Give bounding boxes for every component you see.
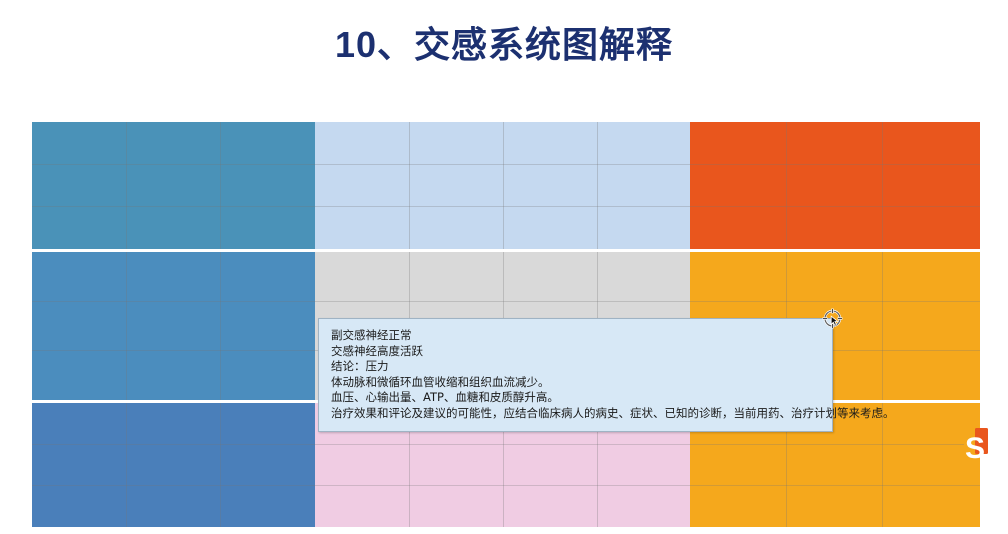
- heatmap-cell-middle-left[interactable]: [32, 252, 315, 400]
- grid-line-h: [315, 485, 690, 486]
- grid-line-h: [32, 206, 315, 207]
- grid-line-h: [32, 444, 315, 445]
- tooltip-line: 血压、心输出量、ATP、血糖和皮质醇升高。: [331, 390, 820, 406]
- grid-line-v: [882, 252, 883, 400]
- grid-line-v: [220, 403, 221, 527]
- slide-root: 10、交感系统图解释: [0, 0, 1008, 534]
- grid-line-h: [315, 206, 690, 207]
- heatmap-row-top: [32, 122, 980, 249]
- grid-line-h: [32, 350, 315, 351]
- grid-line-h: [315, 444, 690, 445]
- grid-line-h: [690, 164, 980, 165]
- grid-line-h: [690, 206, 980, 207]
- grid-line-h: [32, 301, 315, 302]
- grid-line-h: [315, 164, 690, 165]
- grid-line-h: [690, 301, 980, 302]
- grid-line-v: [786, 122, 787, 249]
- tooltip-line: 交感神经高度活跃: [331, 344, 820, 360]
- grid-line-h: [690, 485, 980, 486]
- grid-line-v: [126, 122, 127, 249]
- grid-line-v: [503, 122, 504, 249]
- grid-line-v: [882, 403, 883, 527]
- page-title: 10、交感系统图解释: [0, 22, 1008, 67]
- grid-line-v: [882, 122, 883, 249]
- grid-line-h: [315, 301, 690, 302]
- grid-line-v: [126, 403, 127, 527]
- grid-line-h: [690, 444, 980, 445]
- grid-line-v: [126, 252, 127, 400]
- grid-line-v: [220, 252, 221, 400]
- heatmap-cell-top-left[interactable]: [32, 122, 315, 249]
- sogou-logo: S: [962, 428, 998, 472]
- grid-line-v: [597, 122, 598, 249]
- tooltip-line: 体动脉和微循环血管收缩和组织血流减少。: [331, 375, 820, 391]
- tooltip-line: 治疗效果和评论及建议的可能性，应结合临床病人的病史、症状、已知的诊断，当前用药、…: [331, 406, 820, 422]
- heatmap-cell-top-right[interactable]: [690, 122, 980, 249]
- tooltip-line: 结论：压力: [331, 359, 820, 375]
- sogou-logo-letter: S: [965, 432, 985, 465]
- grid-line-v: [220, 122, 221, 249]
- grid-line-v: [409, 122, 410, 249]
- grid-line-h: [32, 164, 315, 165]
- interpretation-tooltip: 副交感神经正常 交感神经高度活跃 结论：压力 体动脉和微循环血管收缩和组织血流减…: [318, 318, 833, 432]
- tooltip-line: 副交感神经正常: [331, 328, 820, 344]
- heatmap-cell-bottom-left[interactable]: [32, 403, 315, 527]
- grid-line-h: [32, 485, 315, 486]
- heatmap-cell-top-middle[interactable]: [315, 122, 690, 249]
